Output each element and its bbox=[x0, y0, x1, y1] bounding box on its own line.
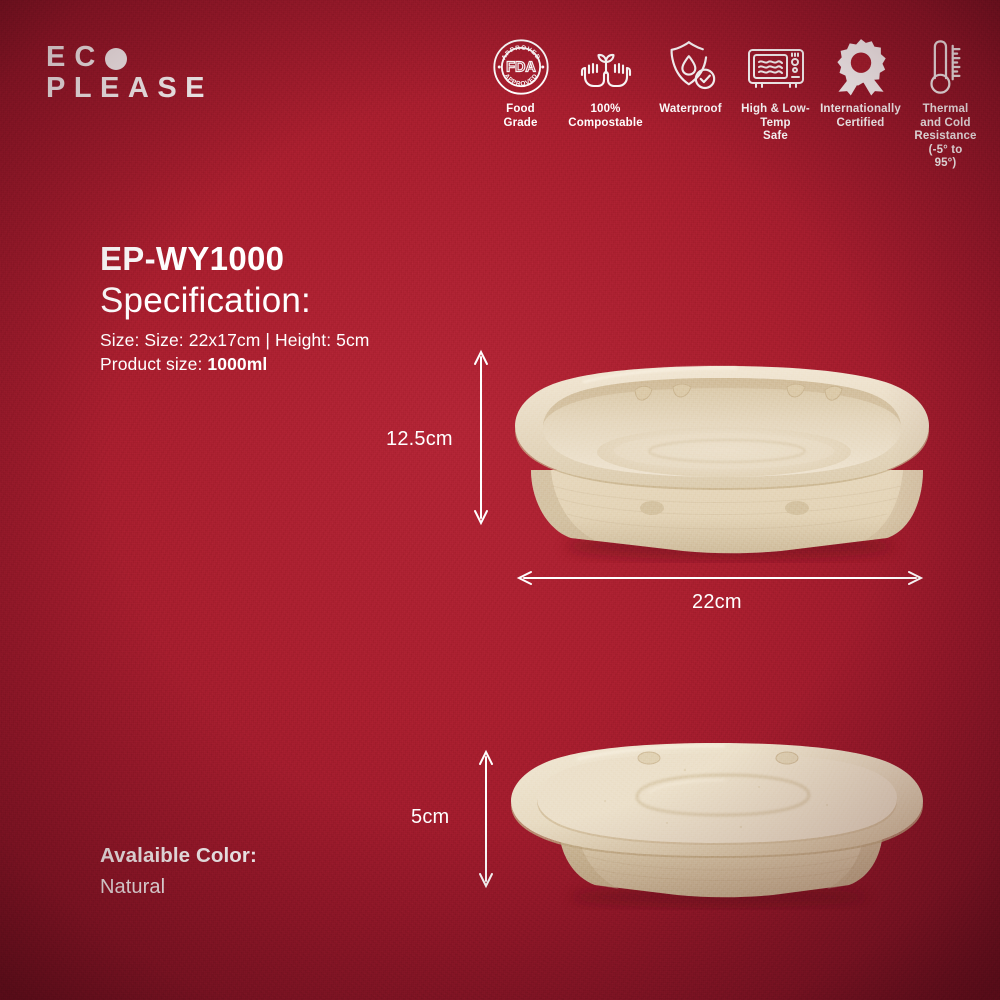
specification-volume-line: Product size: 1000ml bbox=[100, 352, 369, 376]
available-color-title: Avalaible Color: bbox=[100, 842, 257, 869]
brand-logo-line-2: PLEASE bbox=[46, 73, 213, 104]
dimension-label-lid-height: 5cm bbox=[411, 806, 449, 829]
badge-temp-safe: High & Low-Temp Safe bbox=[733, 36, 818, 144]
specification-size-line: Size: Size: 22x17cm | Height: 5cm bbox=[100, 328, 369, 352]
dimension-line-bowl-width bbox=[514, 568, 926, 588]
brand-logo-line-1: EC bbox=[46, 42, 213, 73]
thermometer-icon bbox=[923, 36, 969, 98]
badge-compostable: 100% Compostable bbox=[563, 36, 648, 130]
badge-label: Waterproof bbox=[659, 103, 721, 117]
brand-logo-eco-text: EC bbox=[46, 42, 104, 73]
available-color-block: Avalaible Color: Natural bbox=[100, 842, 257, 901]
dimension-label-bowl-width: 22cm bbox=[692, 591, 742, 614]
brand-logo-circle-icon bbox=[105, 48, 127, 70]
volume-value: 1000ml bbox=[207, 354, 267, 374]
badge-label: Internationally Certified bbox=[820, 103, 901, 130]
specification-block: EP-WY1000 Specification: Size: Size: 22x… bbox=[100, 240, 369, 376]
badge-thermal-resistance: Thermal and Cold Resistance (-5° to 95°) bbox=[903, 36, 988, 171]
badge-internationally-certified: Internationally Certified bbox=[818, 36, 903, 130]
svg-text:FDA: FDA bbox=[506, 60, 536, 76]
shield-droplet-waterproof-icon bbox=[665, 36, 717, 98]
product-spec-sheet: EC PLEASE APPROVED APPROVED bbox=[0, 0, 1000, 1000]
microwave-oven-icon bbox=[745, 36, 807, 98]
product-image-open-container bbox=[487, 348, 957, 563]
dimension-line-bowl-height bbox=[471, 345, 491, 530]
badge-label: Thermal and Cold Resistance (-5° to 95°) bbox=[914, 103, 976, 171]
badge-waterproof: Waterproof bbox=[648, 36, 733, 117]
badge-food-grade: APPROVED APPROVED FDA Food Grade bbox=[478, 36, 563, 130]
dimension-line-lid-height bbox=[476, 745, 496, 893]
brand-logo: EC PLEASE bbox=[46, 42, 213, 104]
product-sku: EP-WY1000 bbox=[100, 240, 369, 278]
award-rosette-icon bbox=[834, 36, 888, 98]
fda-approved-seal-icon: APPROVED APPROVED FDA bbox=[492, 36, 550, 98]
product-image-lidded-container bbox=[497, 735, 937, 910]
available-color-value: Natural bbox=[100, 873, 257, 901]
badge-label: Food Grade bbox=[504, 103, 538, 130]
hands-plant-compostable-icon bbox=[575, 36, 637, 98]
certification-badge-row: APPROVED APPROVED FDA Food Grade bbox=[478, 36, 988, 171]
badge-label: High & Low-Temp Safe bbox=[733, 103, 818, 144]
badge-label: 100% Compostable bbox=[568, 103, 643, 130]
specification-heading: Specification: bbox=[100, 279, 369, 322]
volume-label: Product size: bbox=[100, 354, 207, 374]
dimension-label-bowl-height: 12.5cm bbox=[386, 428, 453, 451]
